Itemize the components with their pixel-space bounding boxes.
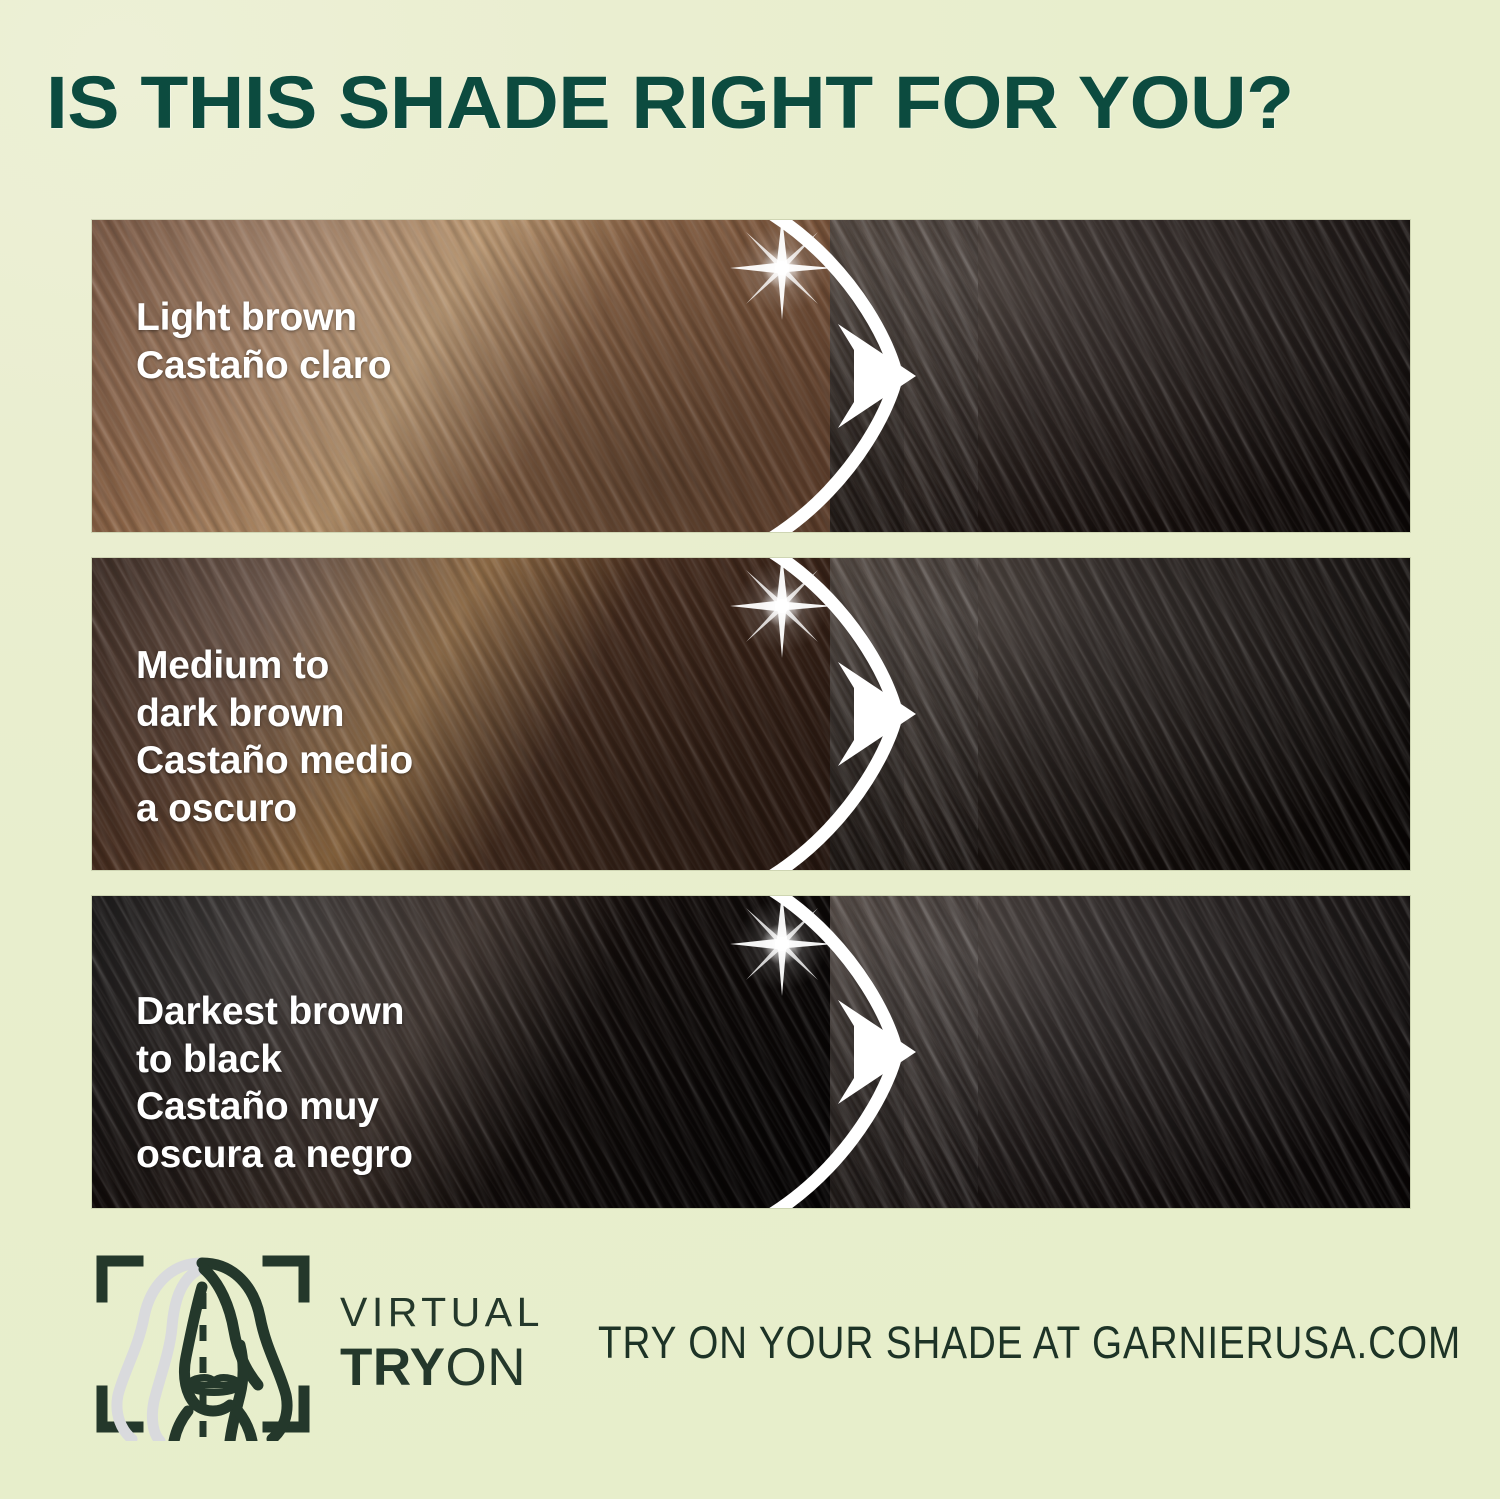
shade-label: Light brown Castaño claro <box>136 294 391 389</box>
shade-row: Medium to dark brown Castaño medio a osc… <box>92 558 1410 870</box>
virtual-try-on-line1: VIRTUAL <box>340 1292 544 1333</box>
virtual-try-on-try: TRY <box>340 1338 446 1397</box>
shade-label: Medium to dark brown Castaño medio a osc… <box>136 642 413 832</box>
poster-canvas: IS THIS SHADE RIGHT FOR YOU? <box>0 0 1500 1499</box>
shade-row: Light brown Castaño claro <box>92 220 1410 532</box>
virtual-try-on-line2: TRYON <box>340 1341 544 1394</box>
footer: VIRTUAL TRYON TRY ON YOUR SHADE AT GARNI… <box>92 1238 1432 1448</box>
page-title: IS THIS SHADE RIGHT FOR YOU? <box>46 66 1500 140</box>
virtual-try-on-face-scan-icon <box>92 1245 314 1441</box>
shade-label: Darkest brown to black Castaño muy oscur… <box>136 988 413 1178</box>
virtual-try-on-on: ON <box>446 1338 527 1397</box>
virtual-try-on-wordmark: VIRTUAL TRYON <box>340 1292 544 1394</box>
tagline: TRY ON YOUR SHADE AT GARNIERUSA.COM <box>598 1317 1461 1369</box>
shade-row: Darkest brown to black Castaño muy oscur… <box>92 896 1410 1208</box>
